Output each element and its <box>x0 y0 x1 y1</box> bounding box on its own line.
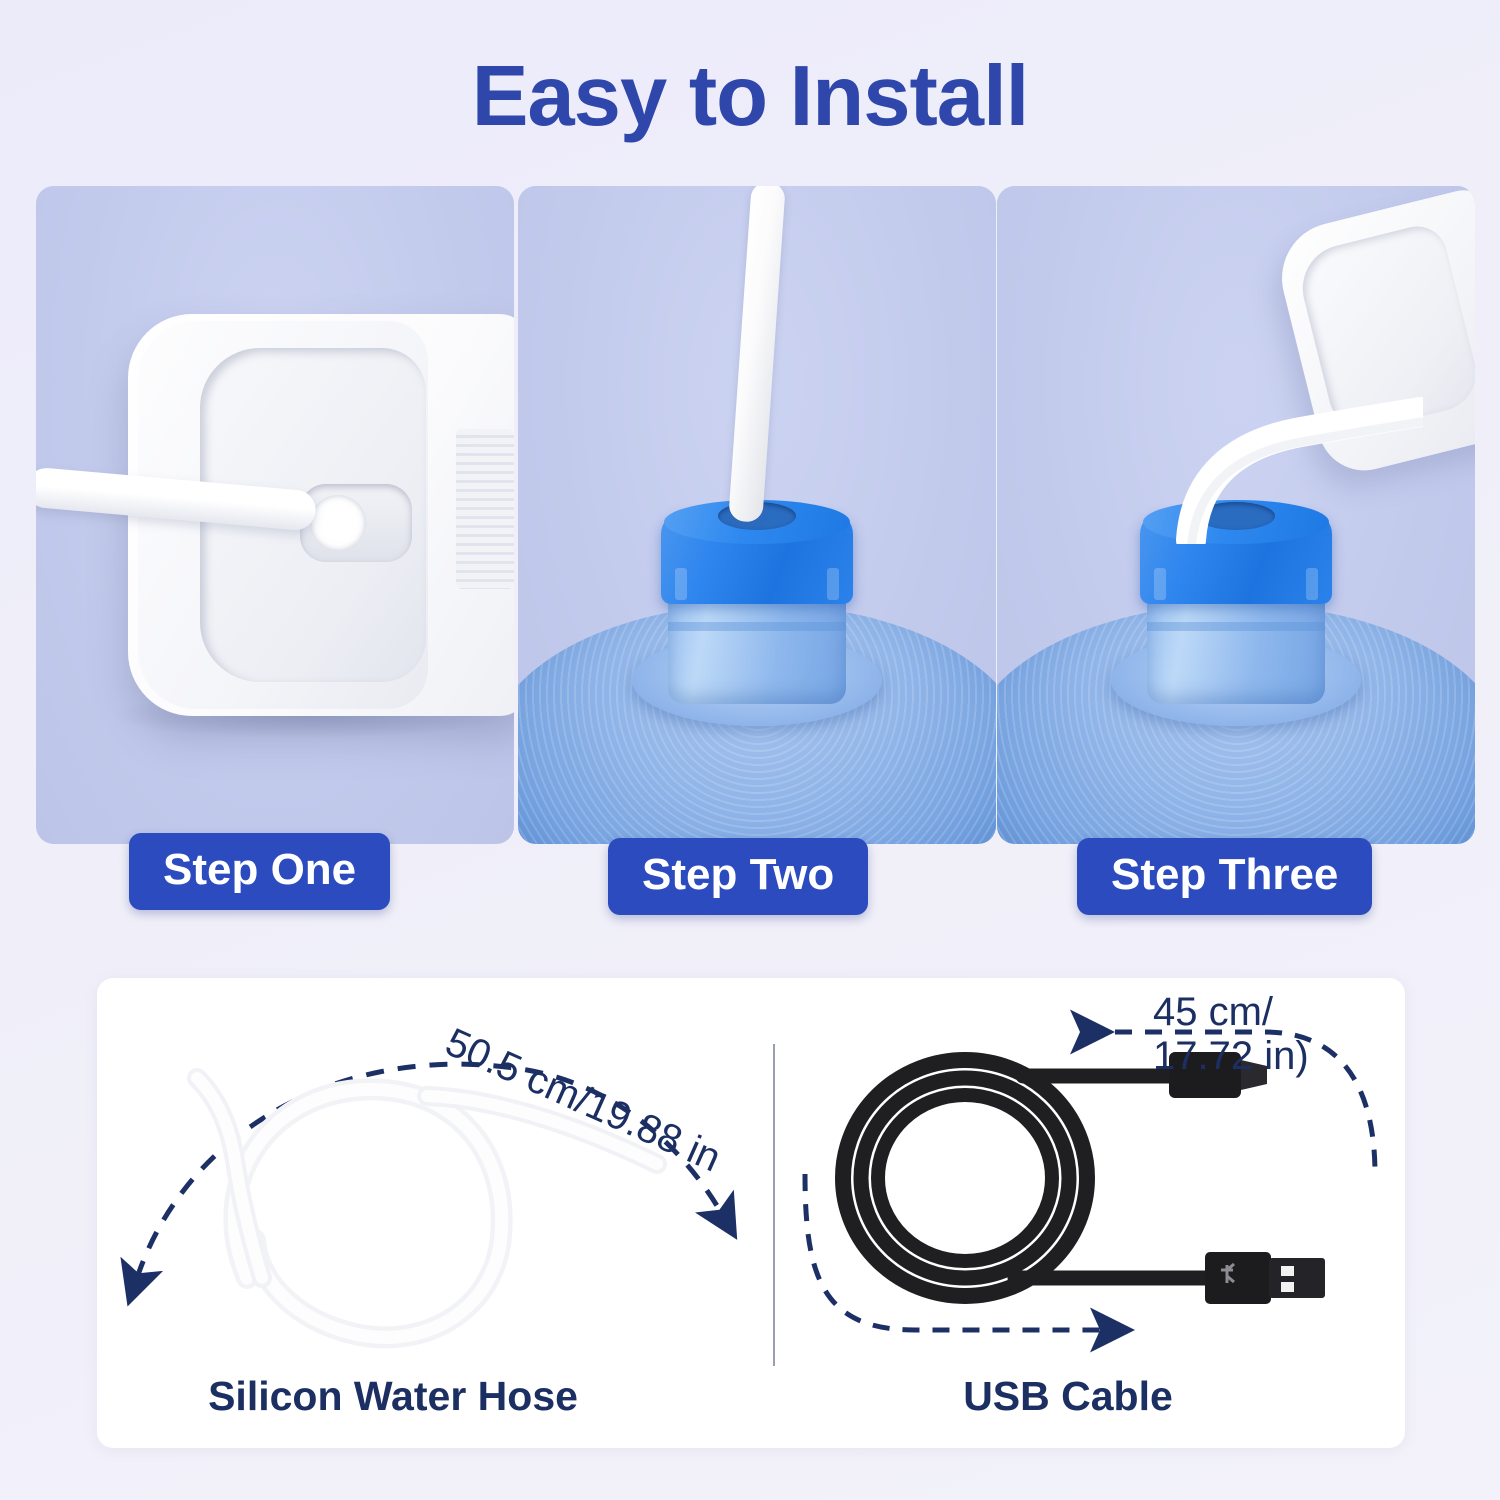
accessories-card: 50.5 cm/19.88 in Silicon Water Hose <box>97 978 1405 1448</box>
step-panel-two <box>518 186 996 844</box>
cable-dimension-line2: 17.72 in) <box>1153 1034 1309 1078</box>
bottle-cap-two <box>661 512 853 604</box>
cap-grip-right-two <box>827 568 839 600</box>
cable-dimension-label: 45 cm/ 17.72 in) <box>1153 990 1309 1078</box>
step-badge-three[interactable]: Step Three <box>1077 838 1372 915</box>
cable-dimension-line1: 45 cm/ <box>1153 990 1273 1034</box>
step-panel-three <box>997 186 1475 844</box>
hose-bent-three <box>1173 394 1423 544</box>
pump-hose-port <box>300 484 412 562</box>
pump-ribs <box>456 429 514 589</box>
accessory-cable: 45 cm/ 17.72 in) USB Cable <box>775 978 1405 1448</box>
cable-name-label: USB Cable <box>753 1373 1383 1420</box>
step-badge-one[interactable]: Step One <box>129 833 390 910</box>
cap-grip-left-two <box>675 568 687 600</box>
hose-name-label: Silicon Water Hose <box>55 1373 731 1420</box>
cap-grip-left-three <box>1154 568 1166 600</box>
step-panel-one <box>36 186 514 844</box>
infographic-page: Easy to Install <box>0 0 1500 1500</box>
usb-a-connector <box>1205 1252 1325 1304</box>
page-title: Easy to Install <box>0 52 1500 141</box>
accessory-hose: 50.5 cm/19.88 in Silicon Water Hose <box>97 978 773 1448</box>
pump-port-hole <box>310 495 366 551</box>
step-badge-two[interactable]: Step Two <box>608 838 868 915</box>
cap-grip-right-three <box>1306 568 1318 600</box>
steps-row <box>36 186 1466 846</box>
